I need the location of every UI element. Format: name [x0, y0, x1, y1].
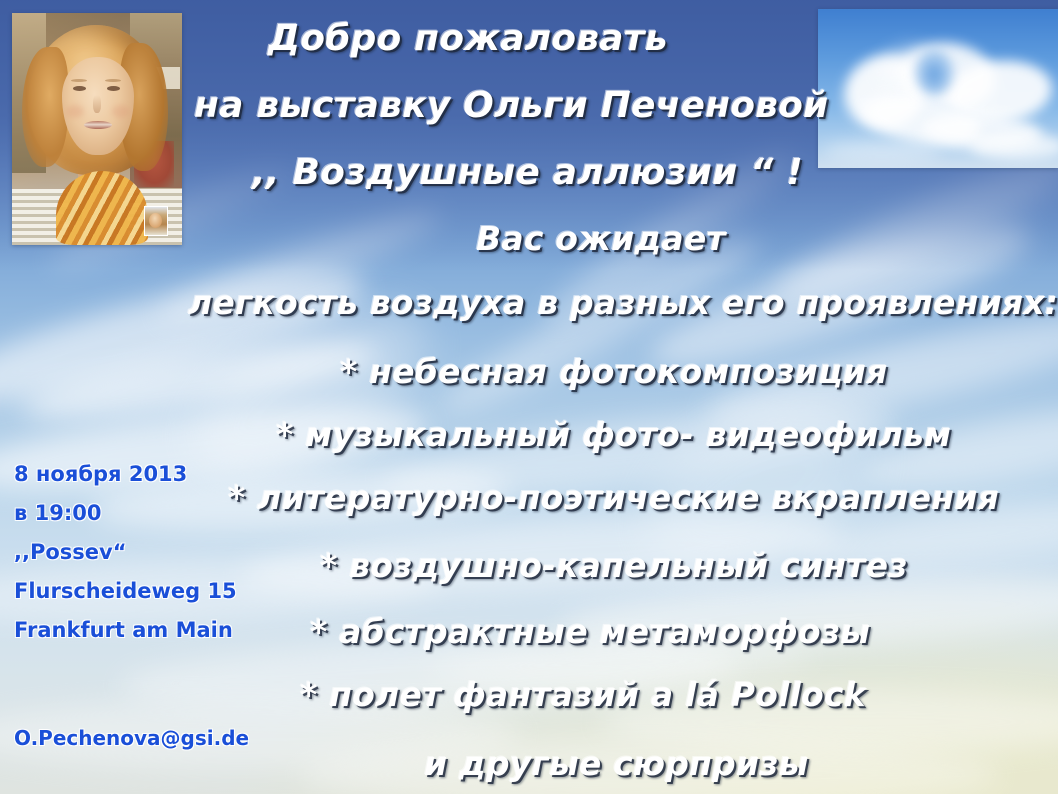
event-date: 8 ноября 2013	[14, 455, 314, 494]
venue-name: ,,Possev“	[14, 533, 314, 572]
event-details-block: 8 ноября 2013 в 19:00 ,,Possev“ Flursche…	[14, 455, 314, 650]
venue-street: Flurscheideweg 15	[14, 572, 314, 611]
venue-city: Frankfurt am Main	[14, 611, 314, 650]
event-time: в 19:00	[14, 494, 314, 533]
heart-cloud-photo	[818, 9, 1058, 168]
portrait-inset-badge	[144, 206, 168, 236]
contact-email-link[interactable]: O.Pechenova@gsi.de	[14, 726, 249, 750]
portrait-photo	[12, 13, 182, 245]
exhibition-poster: Добро пожаловать на выставку Ольги Печен…	[0, 0, 1058, 794]
